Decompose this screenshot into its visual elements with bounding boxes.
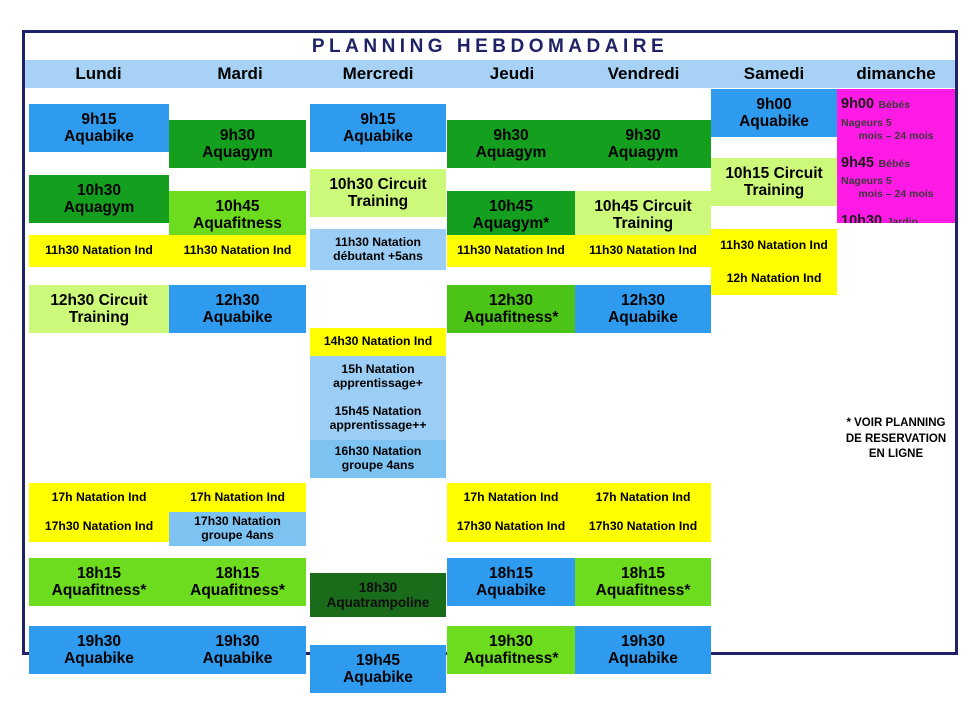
session-time: 9h30	[575, 127, 711, 144]
session-activity: Aquabike	[575, 650, 711, 667]
session-activity: Aquafitness*	[169, 582, 306, 599]
session-activity: Aquatrampoline	[310, 595, 446, 610]
session-activity: apprentissage+	[310, 377, 446, 391]
session-block: 16h30 Natation groupe 4ans	[310, 440, 446, 478]
session-time: 17h Natation Ind	[29, 491, 169, 505]
session-block: 12h30 Aquabike	[575, 285, 711, 333]
session-activity: Aquabike	[29, 128, 169, 145]
day-column-vendredi: 9h30 Aquagym 10h45 Circuit Training 11h3…	[575, 88, 711, 652]
day-header-vendredi: Vendredi	[576, 60, 711, 88]
day-column-samedi: 9h00 Aquabike 10h15 Circuit Training 11h…	[711, 88, 837, 652]
day-header-mercredi: Mercredi	[308, 60, 448, 88]
session-time: 11h30 Natation Ind	[169, 244, 306, 258]
session-activity: Aquabike	[447, 582, 575, 599]
session-block: 9h15 Aquabike	[29, 104, 169, 152]
session-block: 19h45 Aquabike	[310, 645, 446, 693]
session-block: 12h30 Circuit Training	[29, 285, 169, 333]
session-block: 18h15 Aquafitness*	[575, 558, 711, 606]
day-header-lundi: Lundi	[25, 60, 172, 88]
session-activity: Aquabike	[29, 650, 169, 667]
session-time: 12h Natation Ind	[711, 272, 837, 286]
session-block: 11h30 Natation Ind	[169, 235, 306, 267]
session-activity: Training	[29, 309, 169, 326]
session-time: 19h30	[169, 633, 306, 650]
session-time: 17h30 Natation Ind	[29, 520, 169, 534]
planning-frame: PLANNING HEBDOMADAIRE Lundi Mardi Mercre…	[22, 30, 958, 655]
session-time: 17h30 Natation	[169, 515, 306, 529]
session-block: 19h30 Aquabike	[169, 626, 306, 674]
session-block: 17h30 Natation Ind	[447, 512, 575, 542]
session-block: 11h30 Natation Ind	[711, 229, 837, 262]
session-activity: groupe 4ans	[310, 459, 446, 473]
session-time: 17h Natation Ind	[575, 491, 711, 505]
session-block: 19h30 Aquabike	[575, 626, 711, 674]
day-column-jeudi: 9h30 Aquagym 10h45 Aquagym* 11h30 Natati…	[447, 88, 575, 652]
session-block: 10h45 Aquagym*	[447, 191, 575, 239]
session-activity: Aquagym	[575, 144, 711, 161]
session-time: 16h30 Natation	[310, 445, 446, 459]
dimanche-session-1030: 10h30 Jardin d'éveil 24 mois – 4 ans	[837, 212, 955, 223]
session-block: 12h30 Aquafitness*	[447, 285, 575, 333]
session-block: 17h Natation Ind	[447, 483, 575, 512]
session-time: 11h30 Natation	[310, 236, 446, 250]
session-activity: Aquabike	[169, 650, 306, 667]
session-activity: Training	[310, 193, 446, 210]
session-block: 10h30 Aquagym	[29, 175, 169, 223]
session-activity: Aquafitness*	[447, 650, 575, 667]
session-activity: Aquabike	[711, 113, 837, 130]
session-block: 9h00 Aquabike	[711, 89, 837, 137]
day-header-samedi: Samedi	[711, 60, 837, 88]
session-block: 11h30 Natation débutant +5ans	[310, 229, 446, 270]
session-time: 17h Natation Ind	[447, 491, 575, 505]
session-time: 18h15	[447, 565, 575, 582]
dimanche-session-0945: 9h45 Bébés Nageurs 5 mois – 24 mois	[837, 154, 955, 202]
session-block: 11h30 Natation Ind	[447, 235, 575, 267]
session-time: 10h30 Circuit	[310, 176, 446, 193]
session-time: 15h45 Natation	[310, 405, 446, 419]
page-title: PLANNING HEBDOMADAIRE	[312, 36, 668, 58]
bebes-nageurs-block: 9h00 Bébés Nageurs 5 mois – 24 mois 9h45…	[837, 89, 955, 223]
session-time: 11h30 Natation Ind	[711, 239, 837, 253]
session-block: 17h30 Natation groupe 4ans	[169, 512, 306, 546]
session-time: 11h30 Natation Ind	[29, 244, 169, 258]
session-time: 17h30 Natation Ind	[575, 520, 711, 534]
session-time: 18h15	[169, 565, 306, 582]
reservation-note: * VOIR PLANNING DE RESERVATION EN LIGNE	[837, 416, 955, 463]
session-subtitle: mois – 24 mois	[837, 131, 955, 143]
session-time: 9h15	[29, 111, 169, 128]
session-time: 10h30	[841, 213, 882, 223]
session-activity: Aquabike	[310, 669, 446, 686]
session-time: 17h Natation Ind	[169, 491, 306, 505]
session-block: 10h45 Aquafitness	[169, 191, 306, 239]
session-block: 9h30 Aquagym	[447, 120, 575, 168]
session-time: 12h30	[447, 292, 575, 309]
session-time: 15h Natation	[310, 363, 446, 377]
session-block: 15h45 Natation apprentissage++	[310, 398, 446, 440]
session-block: 10h45 Circuit Training	[575, 191, 711, 239]
session-time: 10h45	[447, 198, 575, 215]
session-time: 10h45 Circuit	[575, 198, 711, 215]
session-time: 12h30	[575, 292, 711, 309]
session-activity: Aquafitness*	[575, 582, 711, 599]
session-activity: Aquagym*	[447, 215, 575, 232]
session-time: 9h00	[711, 96, 837, 113]
session-activity: Aquafitness*	[29, 582, 169, 599]
day-column-mardi: 9h30 Aquagym 10h45 Aquafitness 11h30 Nat…	[169, 88, 306, 652]
session-time: 12h30	[169, 292, 306, 309]
day-header-row: Lundi Mardi Mercredi Jeudi Vendredi Same…	[25, 60, 955, 88]
session-block: 18h30 Aquatrampoline	[310, 573, 446, 617]
session-block: 11h30 Natation Ind	[29, 235, 169, 267]
session-block: 9h15 Aquabike	[310, 104, 446, 152]
session-block: 17h30 Natation Ind	[575, 512, 711, 542]
session-time: 10h15 Circuit	[711, 165, 837, 182]
session-time: 10h45	[169, 198, 306, 215]
session-block: 10h15 Circuit Training	[711, 158, 837, 206]
schedule-grid: 9h15 Aquabike 10h30 Aquagym 11h30 Natati…	[25, 88, 955, 652]
session-time: 19h30	[447, 633, 575, 650]
session-time: 9h30	[169, 127, 306, 144]
session-activity: Aquafitness	[169, 215, 306, 232]
session-activity: Aquabike	[310, 128, 446, 145]
session-block: 9h30 Aquagym	[575, 120, 711, 168]
session-activity: Aquagym	[29, 199, 169, 216]
session-time: 9h30	[447, 127, 575, 144]
title-bar: PLANNING HEBDOMADAIRE	[25, 33, 955, 60]
session-block: 19h30 Aquafitness*	[447, 626, 575, 674]
session-block: 12h Natation Ind	[711, 262, 837, 295]
session-activity: groupe 4ans	[169, 529, 306, 543]
session-time: 11h30 Natation Ind	[447, 244, 575, 258]
session-block: 19h30 Aquabike	[29, 626, 169, 674]
session-block: 18h15 Aquafitness*	[29, 558, 169, 606]
session-time: 18h30	[310, 580, 446, 595]
day-header-jeudi: Jeudi	[448, 60, 576, 88]
session-block: 18h15 Aquabike	[447, 558, 575, 606]
session-time: 10h30	[29, 182, 169, 199]
day-column-dimanche: 9h00 Bébés Nageurs 5 mois – 24 mois 9h45…	[837, 88, 955, 652]
session-time: 9h45	[841, 155, 874, 171]
session-time: 19h30	[29, 633, 169, 650]
session-time: 9h15	[310, 111, 446, 128]
session-time: 17h30 Natation Ind	[447, 520, 575, 534]
session-time: 19h30	[575, 633, 711, 650]
session-time: 9h00	[841, 96, 874, 112]
session-block: 15h Natation apprentissage+	[310, 356, 446, 398]
session-block: 14h30 Natation Ind	[310, 328, 446, 356]
session-block: 17h Natation Ind	[575, 483, 711, 512]
session-activity: Training	[575, 215, 711, 232]
session-block: 18h15 Aquafitness*	[169, 558, 306, 606]
session-activity: Aquagym	[169, 144, 306, 161]
session-time: 18h15	[575, 565, 711, 582]
dimanche-session-0900: 9h00 Bébés Nageurs 5 mois – 24 mois	[837, 95, 955, 143]
session-activity: Aquafitness*	[447, 309, 575, 326]
session-activity: apprentissage++	[310, 419, 446, 433]
session-time: 11h30 Natation Ind	[575, 244, 711, 258]
session-activity: débutant +5ans	[310, 250, 446, 264]
session-activity: Aquabike	[575, 309, 711, 326]
session-block: 11h30 Natation Ind	[575, 235, 711, 267]
session-block: 17h Natation Ind	[169, 483, 306, 512]
day-column-lundi: 9h15 Aquabike 10h30 Aquagym 11h30 Natati…	[29, 88, 169, 652]
session-time: 12h30 Circuit	[29, 292, 169, 309]
session-subtitle: mois – 24 mois	[837, 189, 955, 201]
session-block: 10h30 Circuit Training	[310, 169, 446, 217]
session-time: 14h30 Natation Ind	[310, 335, 446, 349]
reservation-note-line1: * VOIR PLANNING	[846, 417, 945, 429]
session-block: 17h30 Natation Ind	[29, 512, 169, 542]
session-block: 17h Natation Ind	[29, 483, 169, 512]
session-activity: Aquabike	[169, 309, 306, 326]
session-block: 12h30 Aquabike	[169, 285, 306, 333]
reservation-note-line2: DE RESERVATION	[846, 433, 946, 445]
day-header-dimanche: dimanche	[837, 60, 955, 88]
day-column-mercredi: 9h15 Aquabike 10h30 Circuit Training 11h…	[310, 88, 446, 652]
reservation-note-line3: EN LIGNE	[869, 448, 923, 460]
session-block: 9h30 Aquagym	[169, 120, 306, 168]
session-time: 19h45	[310, 652, 446, 669]
day-header-mardi: Mardi	[172, 60, 308, 88]
session-activity: Training	[711, 182, 837, 199]
session-time: 18h15	[29, 565, 169, 582]
session-activity: Aquagym	[447, 144, 575, 161]
